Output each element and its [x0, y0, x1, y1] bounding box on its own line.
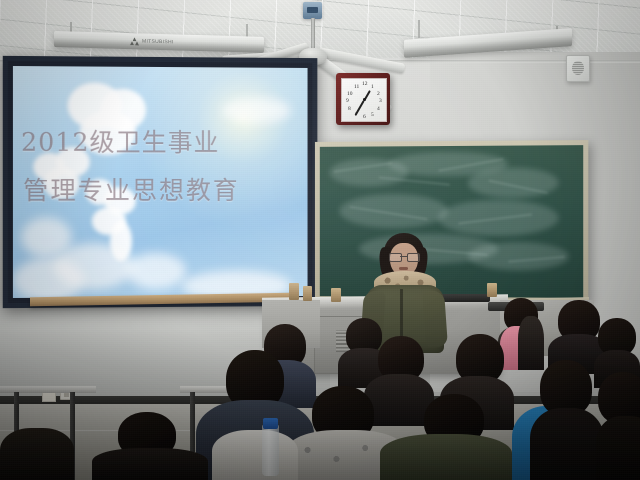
slide-title-line-2: 管理专业思想教育 — [23, 167, 307, 215]
student-shoulders — [380, 434, 512, 480]
student-white-sleeve — [212, 430, 298, 480]
chalk-smudge — [339, 194, 448, 228]
cup[interactable] — [289, 283, 299, 300]
three-diamond-icon — [130, 37, 139, 45]
fan-motor-mount — [303, 2, 322, 19]
light-hanger-rod — [418, 20, 420, 38]
fan-downrod — [311, 18, 315, 52]
eyeglasses-icon — [389, 253, 419, 260]
clock-number: 5 — [371, 112, 374, 118]
slide-text-block: 2012级卫生事业 管理专业思想教育 — [21, 118, 307, 215]
student-silhouette — [92, 412, 208, 480]
mitsubishi-logo: MITSUBISHI — [130, 37, 174, 46]
cup[interactable] — [303, 286, 312, 301]
teacher-mouth — [399, 267, 408, 270]
cup[interactable] — [487, 283, 497, 297]
student-shoulders — [596, 416, 640, 480]
cloud-shape — [110, 221, 132, 261]
cup[interactable] — [331, 288, 341, 302]
clock-number: 12 — [362, 81, 368, 87]
student-silhouette — [596, 372, 640, 480]
bottle-cap — [263, 418, 278, 429]
green-chalkboard[interactable] — [315, 140, 588, 303]
wall-clock: 12 1 2 3 4 5 6 7 8 9 10 11 — [336, 73, 390, 125]
cloud-shape — [126, 253, 186, 289]
clock-number: 1 — [371, 84, 374, 90]
clock-number: 10 — [347, 91, 353, 97]
student-shoulders — [0, 428, 74, 480]
light-brand-label: MITSUBISHI — [142, 39, 174, 46]
clock-number: 9 — [346, 98, 349, 104]
clock-number: 4 — [377, 106, 380, 112]
projection-screen[interactable]: 2012级卫生事业 管理专业思想教育 — [3, 56, 318, 308]
cloud-shape — [13, 257, 84, 298]
student-shoulders — [530, 408, 604, 480]
student-shoulders — [92, 448, 208, 480]
clock-center-pin — [363, 98, 366, 101]
student-silhouette — [530, 360, 604, 480]
water-bottle[interactable] — [262, 424, 279, 476]
classroom-photo: MITSUBISHI — [0, 0, 640, 480]
student-shoulders — [212, 430, 298, 480]
clock-number: 8 — [348, 106, 351, 112]
student-silhouette — [0, 428, 74, 480]
wall-speaker — [566, 55, 590, 82]
clock-number: 3 — [379, 98, 382, 104]
clock-number: 11 — [354, 84, 359, 90]
clock-number: 6 — [363, 114, 366, 120]
clock-face: 12 1 2 3 4 5 6 7 8 9 10 11 — [341, 78, 387, 122]
slide-title-line-1: 2012级卫生事业 — [21, 118, 307, 167]
student-olive-jacket — [380, 394, 512, 480]
projected-slide: 2012级卫生事业 管理专业思想教育 — [13, 66, 308, 298]
clock-number: 2 — [377, 91, 380, 97]
